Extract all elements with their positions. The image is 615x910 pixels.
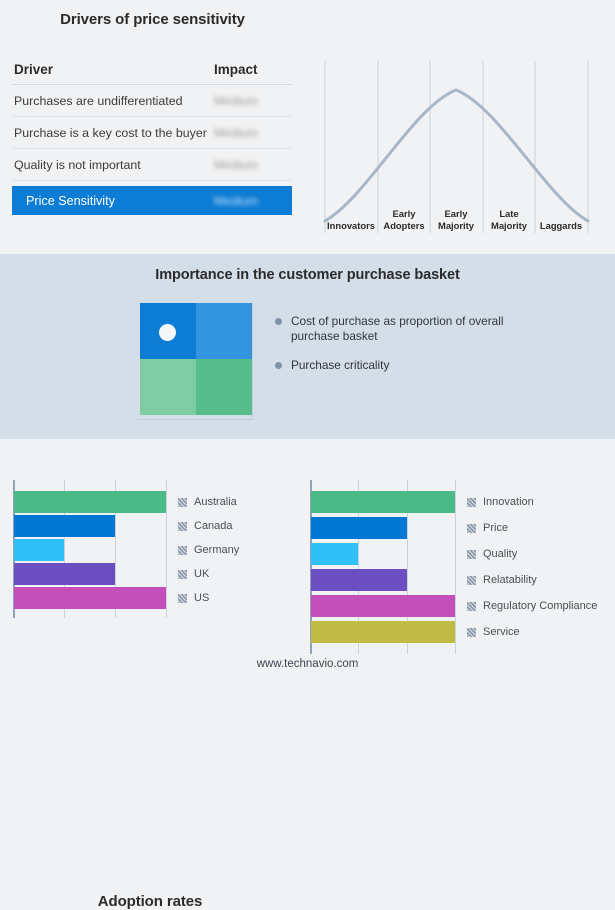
footer-website-url[interactable]: www.technavio.com: [0, 658, 615, 670]
bar-regulatory-compliance[interactable]: [311, 595, 455, 617]
bar-uk[interactable]: [14, 563, 115, 585]
lifecycle-label-late-majority-line1: Late: [499, 208, 518, 219]
quadrant-matrix: [140, 303, 252, 415]
table-row-highlighted[interactable]: Price Sensitivity Medium: [12, 186, 292, 215]
legend-item: Service: [467, 621, 520, 643]
bar-quality[interactable]: [311, 543, 358, 565]
infographic-page: Drivers of price sensitivity Driver Impa…: [0, 0, 615, 680]
legend-item: UK: [178, 563, 209, 585]
legend-swatch-icon: [178, 522, 187, 531]
legend-swatch-icon: [467, 498, 476, 507]
key-purchase-criteria-chart: InnovationPriceQualityRelatabilityRegula…: [300, 480, 615, 654]
legend-item: Australia: [178, 491, 237, 513]
lifecycle-label-early-majority-line1: Early: [445, 208, 469, 219]
legend-item-label: UK: [194, 568, 209, 580]
legend-swatch-icon: [467, 524, 476, 533]
quadrant-bottom-right[interactable]: [196, 359, 252, 415]
legend-swatch-icon: [178, 570, 187, 579]
lifecycle-label-innovators: Innovators: [327, 220, 375, 231]
legend-item-label: Germany: [194, 544, 239, 556]
adoption-lifecycle-title: Adoption lifecycle: [610, 11, 615, 28]
key-purchase-criteria-title: Key purchase criteria: [600, 893, 615, 910]
adoption-lifecycle-panel: Adoption lifecycle Innovators Early Adop…: [305, 0, 615, 254]
legend-item: US: [178, 587, 209, 609]
legend-item: Germany: [178, 539, 239, 561]
importance-legend: Cost of purchase as proportion of overal…: [275, 314, 575, 387]
legend-swatch-icon: [467, 576, 476, 585]
drivers-table: Driver Impact Purchases are undifferenti…: [12, 62, 292, 215]
lifecycle-stage-labels: Innovators Early Adopters Early Majority…: [327, 208, 582, 231]
driver-label: Purchase is a key cost to the buyer: [14, 126, 214, 140]
legend-item-label: Canada: [194, 520, 233, 532]
legend-item-label: Australia: [194, 496, 237, 508]
legend-item-label: Service: [483, 626, 520, 638]
gridline: [166, 480, 167, 618]
legend-item-label: Regulatory Compliance: [483, 600, 597, 612]
bar-price[interactable]: [311, 517, 407, 539]
quadrant-position-dot: [159, 324, 176, 341]
legend-item-label: Purchase criticality: [291, 358, 389, 373]
adoption-rates-chart: AustraliaCanadaGermanyUKUS: [0, 480, 300, 618]
key-purchase-criteria-panel: Key purchase criteria InnovationPriceQua…: [300, 439, 615, 680]
table-row[interactable]: Purchases are undifferentiated Medium: [12, 85, 292, 117]
legend-item: Price: [467, 517, 508, 539]
bell-curve-path: [325, 90, 588, 221]
legend-swatch-icon: [178, 594, 187, 603]
lifecycle-label-early-adopters-line1: Early: [393, 208, 417, 219]
gridline: [455, 480, 456, 654]
bar-service[interactable]: [311, 621, 455, 643]
legend-item: Quality: [467, 543, 517, 565]
adoption-rates-title: Adoption rates: [0, 893, 300, 910]
legend-item-label: US: [194, 592, 209, 604]
impact-value-highlighted: Medium: [214, 194, 290, 208]
legend-swatch-icon: [467, 602, 476, 611]
lifecycle-label-early-majority-line2: Majority: [438, 220, 475, 231]
impact-value: Medium: [214, 158, 290, 172]
driver-label: Quality is not important: [14, 158, 214, 172]
lifecycle-label-early-adopters-line2: Adopters: [383, 220, 424, 231]
legend-item: Canada: [178, 515, 233, 537]
legend-swatch-icon: [467, 628, 476, 637]
bar-australia[interactable]: [14, 491, 166, 513]
legend-item-label: Quality: [483, 548, 517, 560]
column-header-driver: Driver: [14, 62, 214, 77]
bullet-dot-icon: [275, 318, 282, 325]
table-row[interactable]: Purchase is a key cost to the buyer Medi…: [12, 117, 292, 149]
legend-item-label: Relatability: [483, 574, 537, 586]
driver-label-highlighted: Price Sensitivity: [26, 194, 214, 208]
importance-panel-title: Importance in the customer purchase bask…: [0, 267, 615, 283]
quadrant-bottom-left[interactable]: [140, 359, 196, 415]
adoption-rates-panel: Adoption rates AustraliaCanadaGermanyUKU…: [0, 439, 300, 680]
adoption-lifecycle-chart: Innovators Early Adopters Early Majority…: [305, 45, 615, 245]
bar-us[interactable]: [14, 587, 166, 609]
impact-value: Medium: [214, 94, 290, 108]
drivers-panel: Drivers of price sensitivity Driver Impa…: [0, 0, 305, 254]
lifecycle-label-late-majority-line2: Majority: [491, 220, 528, 231]
legend-item-label: Cost of purchase as proportion of overal…: [291, 314, 506, 344]
drivers-panel-title: Drivers of price sensitivity: [0, 11, 305, 28]
legend-item: Innovation: [467, 491, 534, 513]
legend-item: Relatability: [467, 569, 537, 591]
column-header-impact: Impact: [214, 62, 290, 77]
bar-innovation[interactable]: [311, 491, 455, 513]
bar-relatability[interactable]: [311, 569, 407, 591]
legend-item-label: Price: [483, 522, 508, 534]
bar-canada[interactable]: [14, 515, 115, 537]
drivers-table-header: Driver Impact: [12, 62, 292, 85]
legend-item: Cost of purchase as proportion of overal…: [275, 314, 575, 344]
legend-item: Regulatory Compliance: [467, 595, 597, 617]
impact-value: Medium: [214, 126, 290, 140]
legend-swatch-icon: [467, 550, 476, 559]
legend-swatch-icon: [178, 498, 187, 507]
driver-label: Purchases are undifferentiated: [14, 94, 214, 108]
table-row[interactable]: Quality is not important Medium: [12, 149, 292, 181]
lifecycle-label-laggards: Laggards: [540, 220, 582, 231]
legend-item: Purchase criticality: [275, 358, 575, 373]
legend-item-label: Innovation: [483, 496, 534, 508]
bullet-dot-icon: [275, 362, 282, 369]
quadrant-top-right[interactable]: [196, 303, 252, 359]
bar-germany[interactable]: [14, 539, 64, 561]
legend-swatch-icon: [178, 546, 187, 555]
